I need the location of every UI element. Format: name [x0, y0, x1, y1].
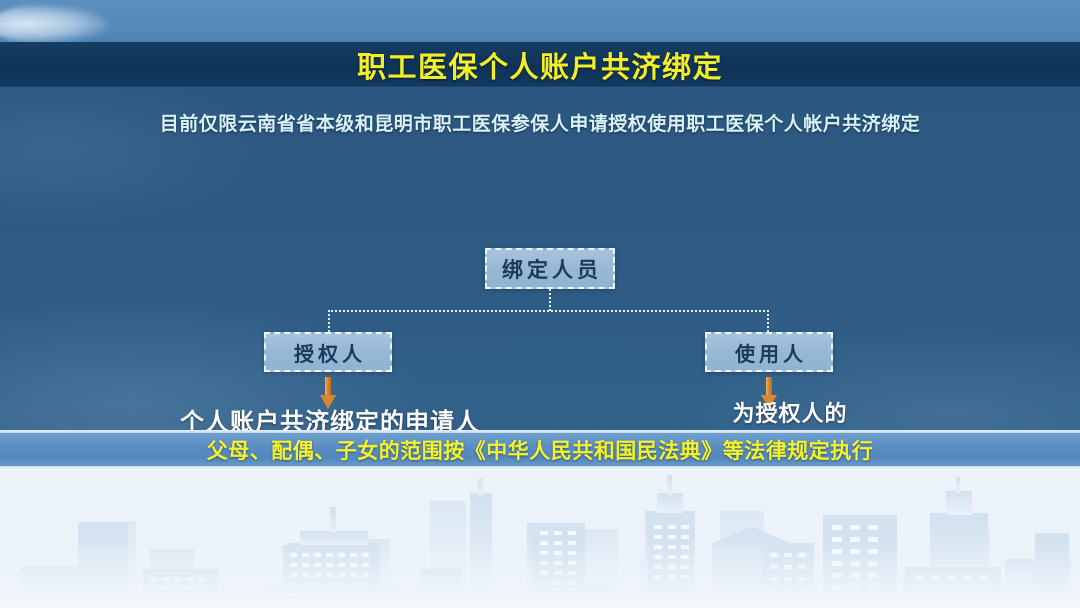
description-user: 为授权人的 父母、配偶、子女 （仅限于云南省内参保人员）	[570, 399, 1010, 430]
node-user-label: 使用人	[731, 338, 807, 367]
arrow-shaft	[325, 377, 331, 397]
node-authorizer-label: 授权人	[290, 338, 366, 367]
title-band: 职工医保个人账户共济绑定	[0, 42, 1080, 87]
legal-banner-text: 父母、配偶、子女的范围按《中华人民共和国民法典》等法律规定执行	[207, 435, 874, 465]
node-root-label: 绑定人员	[498, 254, 602, 284]
node-root: 绑定人员	[485, 248, 615, 289]
node-authorizer: 授权人	[264, 332, 392, 372]
description-line: 个人账户共济绑定的申请人	[60, 402, 600, 430]
content-area: 目前仅限云南省省本级和昆明市职工医保参保人申请授权使用职工医保个人帐户共济绑定 …	[0, 87, 1080, 430]
arrow-shaft	[766, 377, 772, 397]
node-user: 使用人	[705, 332, 833, 372]
connector-horizontal	[328, 310, 769, 312]
connector-left-vertical	[328, 310, 330, 332]
connector-right-vertical	[767, 310, 769, 332]
description-authorizer: 个人账户共济绑定的申请人	[60, 402, 600, 430]
city-skyline-graphic	[0, 471, 1080, 608]
connector-root-vertical	[549, 289, 551, 311]
page-title: 职工医保个人账户共济绑定	[357, 44, 723, 86]
description-line: 为授权人的	[570, 399, 1010, 429]
skyline-footer	[0, 471, 1080, 608]
cloud-decoration	[0, 4, 110, 44]
slide-root: 职工医保个人账户共济绑定 目前仅限云南省省本级和昆明市职工医保参保人申请授权使用…	[0, 0, 1080, 608]
sky-strip	[0, 0, 1080, 42]
legal-banner: 父母、配偶、子女的范围按《中华人民共和国民法典》等法律规定执行	[0, 433, 1080, 466]
subtitle-text: 目前仅限云南省省本级和昆明市职工医保参保人申请授权使用职工医保个人帐户共济绑定	[0, 109, 1080, 136]
